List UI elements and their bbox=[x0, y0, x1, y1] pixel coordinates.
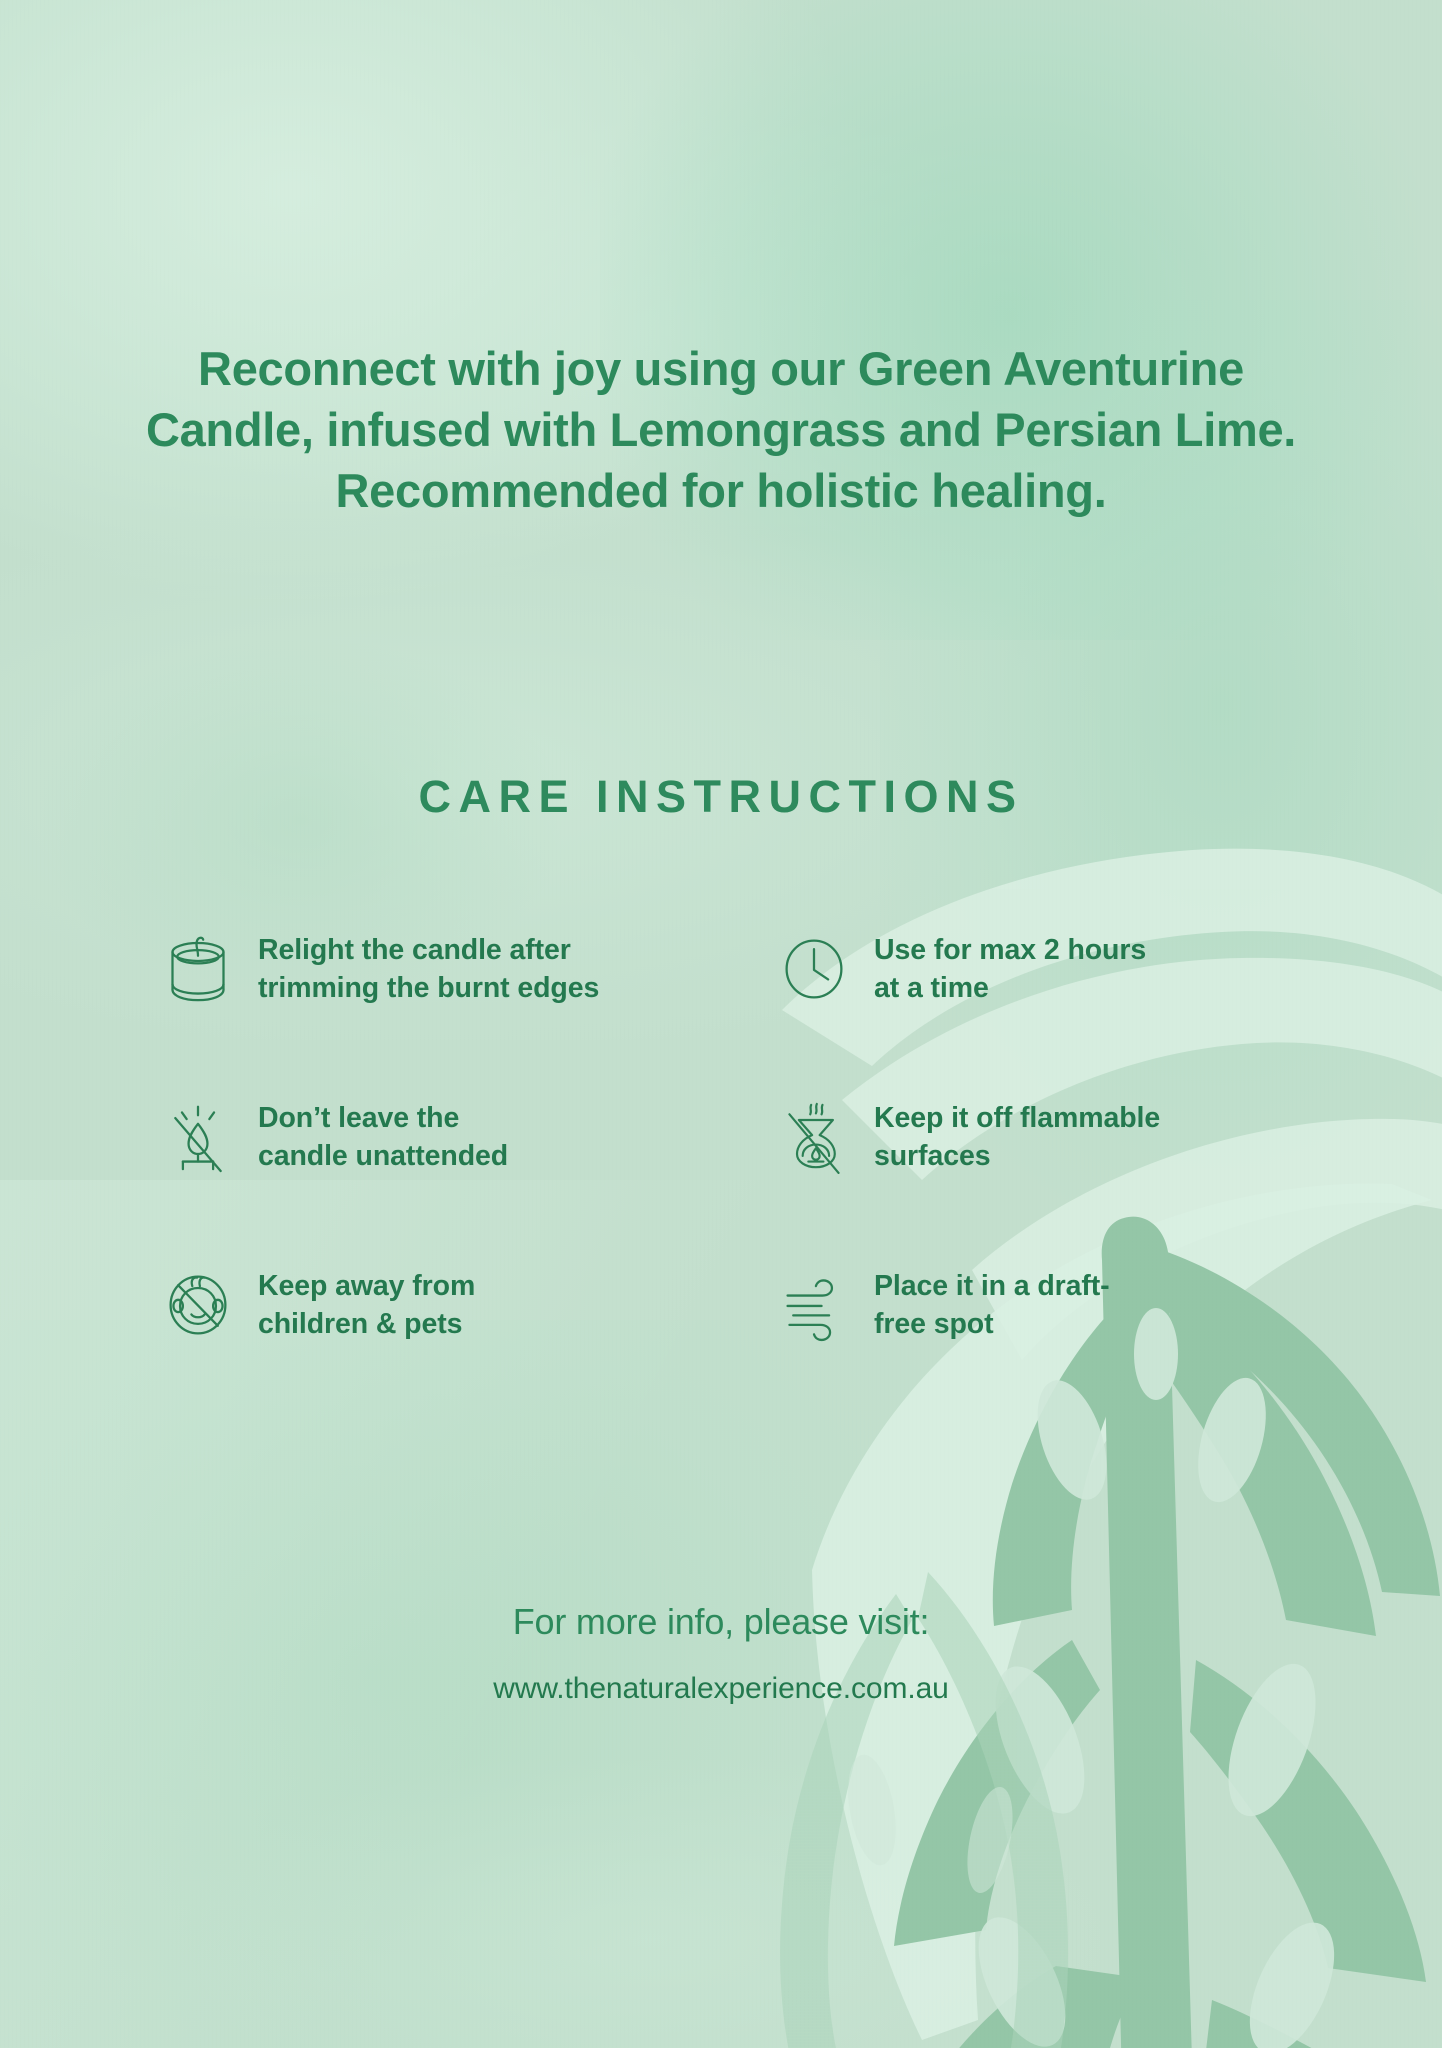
footer-lead-text: For more info, please visit: bbox=[0, 1601, 1442, 1643]
care-text-line-1: Don’t leave the bbox=[258, 1100, 508, 1138]
care-item-relight-candle: Relight the candle after trimming the bu… bbox=[160, 925, 704, 1093]
care-item-text: Use for max 2 hours at a time bbox=[874, 925, 1146, 1008]
care-item-text: Place it in a draft- free spot bbox=[874, 1261, 1110, 1344]
footer-website-url[interactable]: www.thenaturalexperience.com.au bbox=[0, 1672, 1442, 1706]
no-unattended-flame-icon bbox=[160, 1095, 236, 1179]
care-item-text: Don’t leave the candle unattended bbox=[258, 1093, 508, 1176]
product-headline: Reconnect with joy using our Green Avent… bbox=[0, 338, 1442, 521]
care-text-line-2: trimming the burnt edges bbox=[258, 970, 599, 1008]
care-text-line-1: Relight the candle after bbox=[258, 932, 599, 970]
candle-jar-icon bbox=[160, 927, 236, 1011]
headline-line-3: Recommended for holistic healing. bbox=[100, 460, 1342, 521]
care-instructions-grid: Relight the candle after trimming the bu… bbox=[160, 925, 1320, 1429]
care-item-max-two-hours: Use for max 2 hours at a time bbox=[776, 925, 1320, 1093]
care-item-keep-away-children-pets: Keep away from children & pets bbox=[160, 1261, 704, 1429]
no-children-pets-icon bbox=[160, 1263, 236, 1347]
headline-line-2: Candle, infused with Lemongrass and Pers… bbox=[100, 399, 1342, 460]
headline-line-1: Reconnect with joy using our Green Avent… bbox=[100, 338, 1342, 399]
care-item-off-flammable-surfaces: Keep it off flammable surfaces bbox=[776, 1093, 1320, 1261]
care-card: Reconnect with joy using our Green Avent… bbox=[0, 0, 1442, 2048]
care-text-line-1: Keep it off flammable bbox=[874, 1100, 1160, 1138]
care-text-line-1: Keep away from bbox=[258, 1268, 475, 1306]
care-text-line-2: free spot bbox=[874, 1306, 1110, 1344]
care-text-line-2: at a time bbox=[874, 970, 1146, 1008]
wind-draft-icon bbox=[776, 1263, 852, 1347]
care-text-line-2: surfaces bbox=[874, 1138, 1160, 1176]
care-item-draft-free-spot: Place it in a draft- free spot bbox=[776, 1261, 1320, 1429]
care-text-line-1: Use for max 2 hours bbox=[874, 932, 1146, 970]
care-item-text: Keep it off flammable surfaces bbox=[874, 1093, 1160, 1176]
care-text-line-2: candle unattended bbox=[258, 1138, 508, 1176]
no-oil-burner-icon bbox=[776, 1095, 852, 1179]
clock-icon bbox=[776, 927, 852, 1011]
care-item-dont-leave-unattended: Don’t leave the candle unattended bbox=[160, 1093, 704, 1261]
care-instructions-title: CARE INSTRUCTIONS bbox=[0, 771, 1442, 823]
care-item-text: Relight the candle after trimming the bu… bbox=[258, 925, 599, 1008]
care-text-line-2: children & pets bbox=[258, 1306, 475, 1344]
care-text-line-1: Place it in a draft- bbox=[874, 1268, 1110, 1306]
care-item-text: Keep away from children & pets bbox=[258, 1261, 475, 1344]
